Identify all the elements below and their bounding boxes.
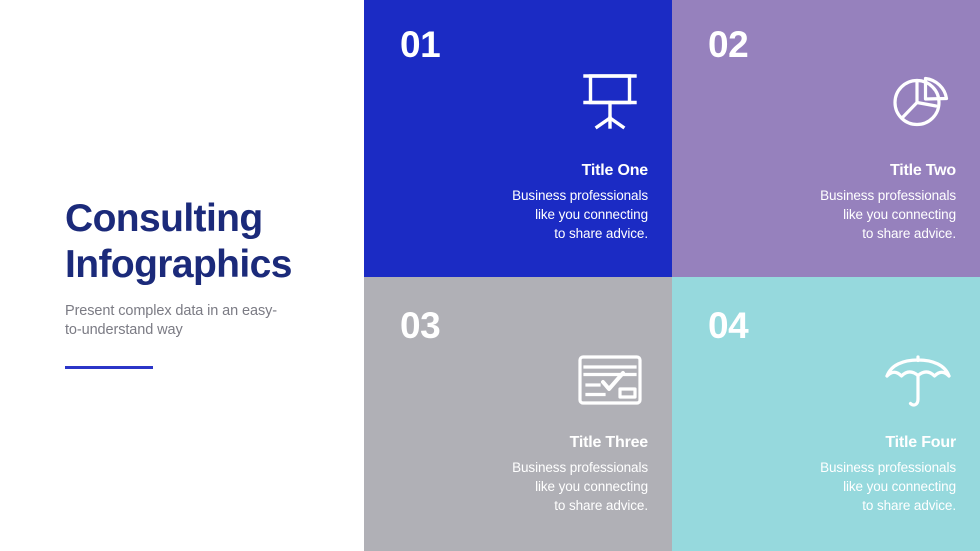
- card-number: 04: [708, 307, 748, 344]
- card-02[interactable]: 02 Title Two Business professionals like…: [672, 0, 980, 277]
- card-title: Title Four: [741, 433, 956, 453]
- pie-chart-icon: [880, 62, 956, 138]
- checklist-card-icon: [572, 343, 648, 419]
- cards-grid: 01 Title One Business professionals like…: [364, 0, 980, 551]
- page-subtitle: Present complex data in an easy- to-unde…: [65, 302, 313, 340]
- card-title: Title Three: [433, 433, 648, 453]
- card-description: Business professionals like you connecti…: [433, 186, 648, 243]
- card-03[interactable]: 03 Title Three Business professionals li…: [364, 277, 672, 551]
- page-title: Consulting Infographics: [65, 196, 364, 288]
- card-number: 01: [400, 26, 440, 63]
- slide-canvas: Consulting Infographics Present complex …: [0, 0, 980, 551]
- card-description: Business professionals like you connecti…: [741, 458, 956, 515]
- card-title: Title One: [433, 161, 648, 181]
- card-number: 02: [708, 26, 748, 63]
- title-panel: Consulting Infographics Present complex …: [0, 0, 364, 551]
- presentation-board-icon: [572, 62, 648, 138]
- card-text-block: Title Three Business professionals like …: [433, 433, 648, 515]
- umbrella-icon: [880, 343, 956, 419]
- card-title: Title Two: [741, 161, 956, 181]
- card-text-block: Title One Business professionals like yo…: [433, 161, 648, 243]
- card-01[interactable]: 01 Title One Business professionals like…: [364, 0, 672, 277]
- card-text-block: Title Four Business professionals like y…: [741, 433, 956, 515]
- card-04[interactable]: 04 Title Four Business professionals lik…: [672, 277, 980, 551]
- card-number: 03: [400, 307, 440, 344]
- card-text-block: Title Two Business professionals like yo…: [741, 161, 956, 243]
- card-description: Business professionals like you connecti…: [741, 186, 956, 243]
- card-description: Business professionals like you connecti…: [433, 458, 648, 515]
- accent-underline: [65, 366, 153, 369]
